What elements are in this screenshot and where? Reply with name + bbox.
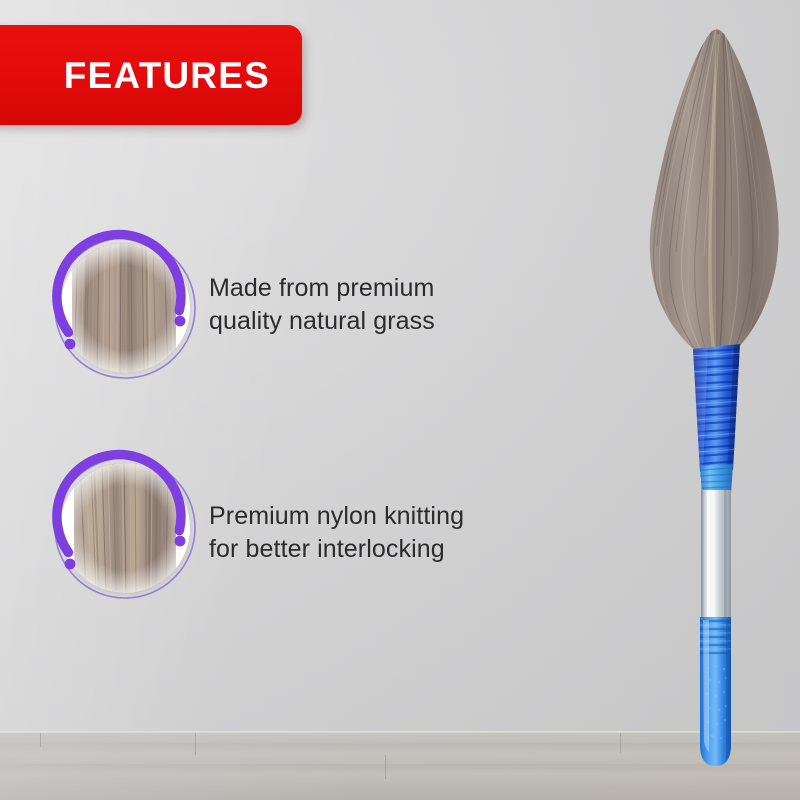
product-image-broom [600, 0, 800, 790]
arc-end-dot-left-icon [65, 339, 76, 350]
arc-end-dot-right-icon [175, 316, 186, 327]
feature-text-nylon-knitting: Premium nylon knitting for better interl… [209, 500, 464, 565]
features-banner: FEATURES [0, 25, 302, 125]
broom-grip [698, 617, 733, 766]
thick-arc-icon [57, 455, 181, 553]
banner-title: FEATURES [64, 57, 270, 94]
thick-arc-icon [57, 235, 181, 333]
floor-seam [195, 733, 196, 755]
feature-circle-nylon-knitting [49, 452, 201, 604]
infographic-canvas: FEATURES [0, 0, 800, 800]
broom-nylon-binding [688, 344, 746, 472]
circle-arc-decoration [49, 452, 201, 604]
floor-seam [385, 755, 386, 779]
arc-end-dot-right-icon [175, 536, 186, 547]
feature-circle-natural-grass [49, 232, 201, 384]
arc-end-dot-left-icon [65, 559, 76, 570]
feature-text-natural-grass: Made from premium quality natural grass [209, 272, 435, 337]
broom-grass-head [650, 28, 779, 366]
broom-metal-handle [701, 490, 731, 622]
circle-arc-decoration [49, 232, 201, 384]
broom-collar [700, 464, 733, 494]
floor-seam [40, 733, 41, 747]
